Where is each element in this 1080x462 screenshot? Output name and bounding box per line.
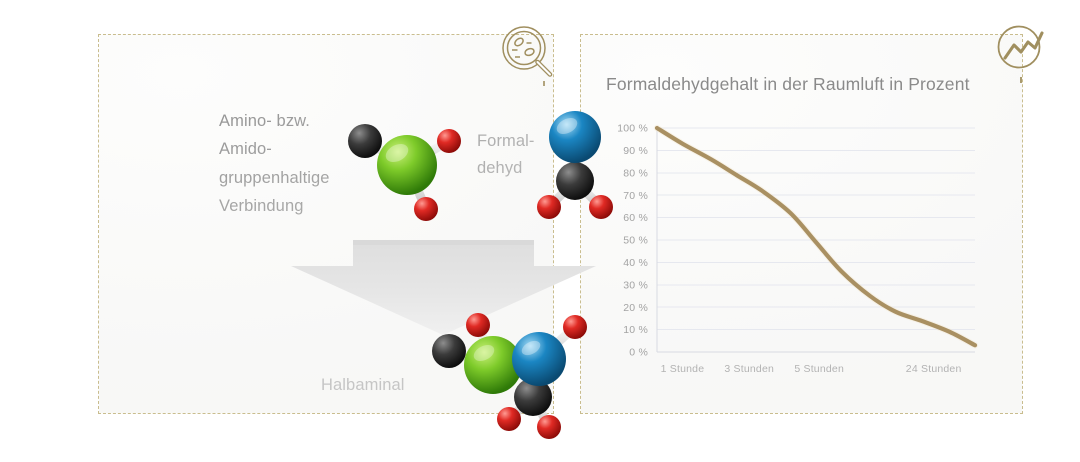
x-axis-tick-labels: 1 Stunde3 Stunden5 Stunden24 Stunden — [661, 363, 962, 375]
chart-title: Formaldehydgehalt in der Raumluft in Pro… — [606, 74, 970, 95]
x-axis-tick-label: 24 Stunden — [906, 363, 962, 375]
series-line-formaldehyde — [657, 128, 975, 345]
y-axis-tick-label: 50 % — [623, 235, 648, 247]
x-axis-tick-label: 3 Stunden — [724, 363, 774, 375]
x-axis-tick-label: 1 Stunde — [661, 363, 705, 375]
formaldehyde-decay-line-chart: 100 %90 %80 %70 %60 %50 %40 %30 %20 %10 … — [600, 120, 1000, 385]
formaldehyde-molecule — [527, 103, 623, 229]
y-axis-tick-label: 40 % — [623, 257, 648, 269]
reaction-diagram-panel: Amino- bzw. Amido- gruppenhaltige Verbin… — [98, 34, 554, 414]
halbaminal-molecule — [421, 307, 605, 439]
y-axis-tick-label: 10 % — [623, 324, 648, 336]
trend-chart-circle-icon — [990, 20, 1056, 86]
magnifier-molecule-icon — [497, 22, 563, 88]
series-line-glow — [657, 128, 975, 345]
y-axis-tick-label: 80 % — [623, 167, 648, 179]
x-axis-tick-label: 5 Stunden — [794, 363, 844, 375]
y-axis-tick-label: 70 % — [623, 190, 648, 202]
y-axis-tick-label: 90 % — [623, 145, 648, 157]
y-axis-tick-label: 30 % — [623, 279, 648, 291]
y-axis-tick-label: 0 % — [629, 347, 648, 359]
amino-compound-molecule — [337, 103, 473, 227]
infographic-root: { "theme": { "frame_dash_color": "#c9bd8… — [0, 0, 1080, 462]
y-axis-tick-label: 60 % — [623, 212, 648, 224]
y-axis-tick-label: 20 % — [623, 302, 648, 314]
halbaminal-label: Halbaminal — [321, 371, 405, 399]
